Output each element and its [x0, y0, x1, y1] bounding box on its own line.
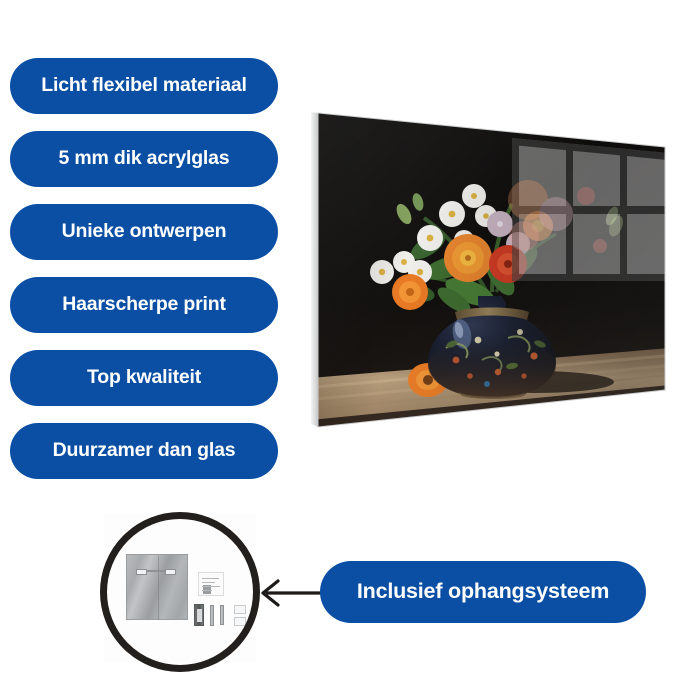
bouquet-foliage — [392, 192, 621, 317]
window-reflection — [512, 138, 668, 281]
feature-badge-duurzamer-dan-glas[interactable]: Duurzamer dan glas — [10, 423, 278, 479]
circle-outline-icon — [100, 512, 260, 672]
feature-badge-label: 5 mm dik acrylglas — [59, 149, 230, 169]
panel-face-outline — [318, 113, 665, 427]
panel-side-edge — [311, 112, 318, 427]
feature-badge-licht-flexibel-materiaal[interactable]: Licht flexibel materiaal — [10, 58, 278, 114]
table-surface — [310, 348, 670, 432]
hanging-system-badge-label: Inclusief ophangsysteem — [357, 581, 609, 603]
feature-badge-top-kwaliteit[interactable]: Top kwaliteit — [10, 350, 278, 406]
feature-badge-list: Licht flexibel materiaal 5 mm dik acrylg… — [10, 58, 278, 496]
bouquet-flowers — [370, 184, 553, 397]
feature-badge-label: Haarscherpe print — [62, 295, 226, 315]
feature-badge-5-mm-dik-acrylglas[interactable]: 5 mm dik acrylglas — [10, 131, 278, 187]
hanging-system-badge[interactable]: Inclusief ophangsysteem — [320, 561, 646, 623]
feature-badge-label: Unieke ontwerpen — [62, 222, 227, 242]
hanging-kit-callout — [100, 512, 260, 672]
feature-badge-haarscherpe-print[interactable]: Haarscherpe print — [10, 277, 278, 333]
hero-marigold — [444, 234, 492, 282]
feature-badge-unieke-ontwerpen[interactable]: Unieke ontwerpen — [10, 204, 278, 260]
feature-badge-label: Duurzamer dan glas — [53, 441, 236, 461]
vase-shadow — [458, 371, 614, 393]
feature-badge-label: Top kwaliteit — [87, 368, 201, 388]
arrow-left-icon — [250, 572, 330, 616]
table-front-edge — [310, 385, 670, 432]
artwork-backdrop — [310, 108, 670, 428]
decorated-vase — [428, 296, 556, 399]
fallen-marigold — [408, 348, 482, 397]
feature-badge-label: Licht flexibel materiaal — [41, 76, 246, 96]
